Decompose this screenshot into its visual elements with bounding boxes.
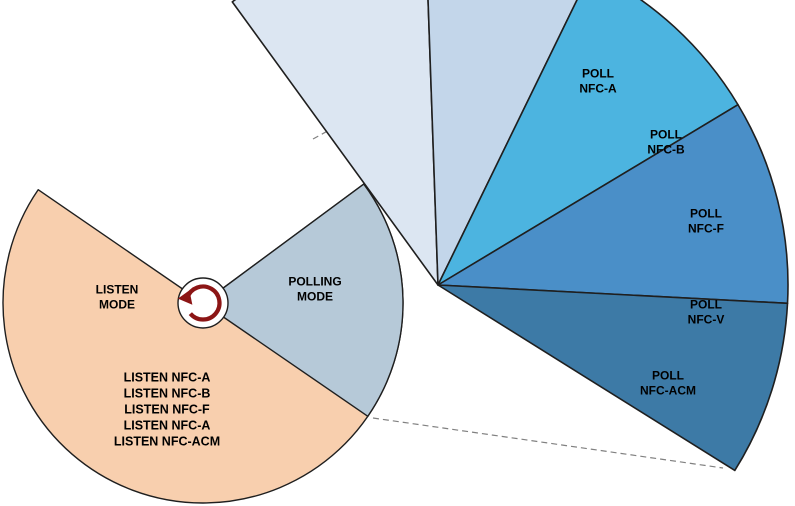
listen-tech-item: LISTEN NFC-B <box>124 386 211 400</box>
listen-tech-item: LISTEN NFC-A <box>124 370 211 384</box>
listen-tech-item: LISTEN NFC-A <box>124 418 211 432</box>
label-listen-mode: LISTENMODE <box>96 283 139 312</box>
listen-tech-item: LISTEN NFC-ACM <box>114 434 220 448</box>
label-poll-nfc-b: POLLNFC-B <box>647 128 685 157</box>
loop-arrow-icon <box>178 278 228 328</box>
label-poll-nfc-v: POLLNFC-V <box>688 298 725 327</box>
label-poll-nfc-a: POLLNFC-A <box>579 67 617 96</box>
nfc-mode-diagram: LISTENMODEPOLLINGMODEPOLLNFC-APOLLNFC-BP… <box>0 0 795 506</box>
label-poll-nfc-f: POLLNFC-F <box>688 207 724 236</box>
listen-tech-item: LISTEN NFC-F <box>124 402 210 416</box>
diagram-canvas: LISTENMODEPOLLINGMODEPOLLNFC-APOLLNFC-BP… <box>0 0 795 506</box>
mode-loop-circle <box>3 184 403 503</box>
wedge-poll-nfc-acm[interactable] <box>438 285 788 470</box>
